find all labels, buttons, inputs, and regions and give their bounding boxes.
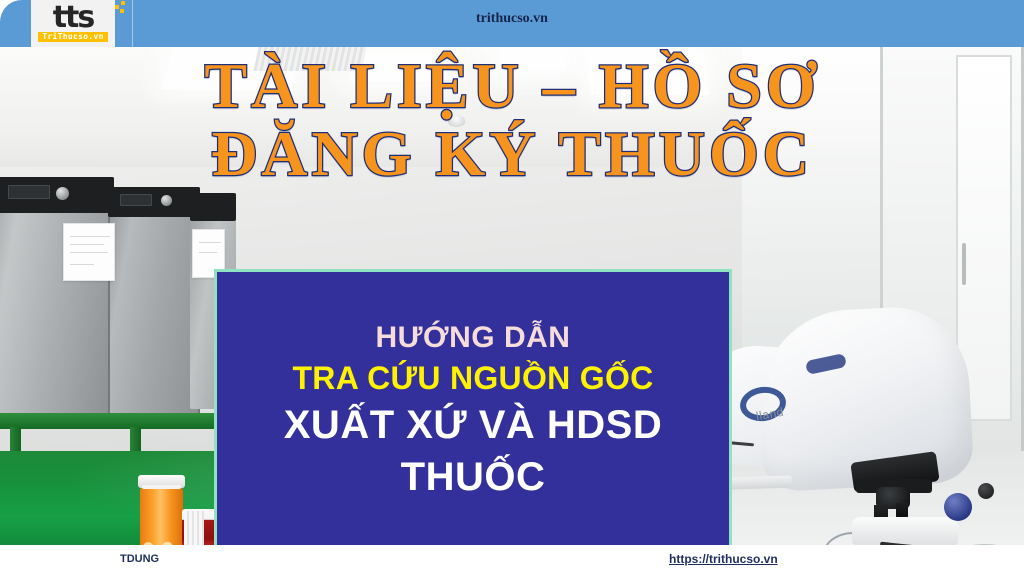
panel-line-3: XUẤT XỨ VÀ HDSD	[284, 400, 663, 450]
microscope-side-knob	[978, 483, 994, 499]
incubator-knob-2	[161, 195, 172, 206]
red-bottle-base-ribs	[184, 511, 204, 545]
panel-line-4: THUỐC	[401, 452, 546, 502]
ceiling-light-4	[585, 51, 709, 95]
incubator-knob-1	[56, 187, 69, 200]
orange-bottle-pills	[143, 537, 180, 545]
microscope-base	[852, 517, 958, 545]
incubator-display-1	[8, 185, 50, 199]
equipment-label-sheet-1	[63, 223, 115, 281]
lab-incubator-left	[0, 177, 114, 427]
incubator-control-panel-3	[190, 193, 236, 221]
panel-line-1: HƯỚNG DẪN	[376, 320, 571, 356]
footer-author: TDUNG	[120, 553, 159, 565]
slide-root: tts TriThucso.vn trithucso.vn	[0, 0, 1024, 576]
panel-line-2: TRA CỨU NGUỒN GỐC	[292, 358, 653, 398]
ceiling-vent	[253, 47, 366, 71]
slide-footer: TDUNG https://trithucso.vn	[0, 545, 1024, 576]
incubator-display-2	[120, 194, 152, 206]
footer-website-link[interactable]: https://trithucso.vn	[669, 552, 778, 566]
ceiling-light-3	[499, 49, 567, 71]
lab-incubator-mid	[108, 187, 200, 419]
header-site-title: trithucso.vn	[0, 11, 1024, 27]
microscope-focus-knob	[944, 493, 972, 521]
ceiling-light-2	[350, 55, 448, 81]
orange-bottle-neck	[142, 485, 181, 489]
slide-photo-background: lland TÀI LIỆU – HỒ	[0, 47, 1024, 545]
subtitle-panel: HƯỚNG DẪN TRA CỨU NGUỒN GỐC XUẤT XỨ VÀ H…	[214, 269, 732, 545]
dome-camera	[448, 115, 465, 127]
bench-top	[0, 413, 250, 429]
top-header-bar: tts TriThucso.vn trithucso.vn	[0, 0, 1024, 47]
door-handle	[962, 243, 966, 285]
orange-pill-bottle	[140, 487, 183, 545]
